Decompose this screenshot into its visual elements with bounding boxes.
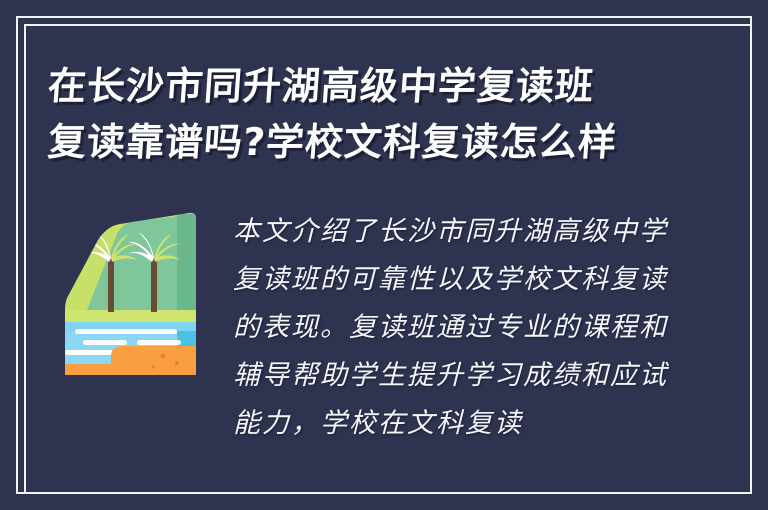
- poster-canvas: 在长沙市同升湖高级中学复读班 复读靠谱吗?学校文科复读怎么样: [0, 0, 768, 510]
- beach-palm-trees-icon: [65, 210, 196, 375]
- title-line-1: 在长沙市同升湖高级中学复读班: [46, 58, 710, 114]
- body-paragraph: 本文介绍了长沙市同升湖高级中学复读班的可靠性以及学校文科复读的表现。复读班通过专…: [233, 208, 673, 448]
- title-line-2: 复读靠谱吗?学校文科复读怎么样: [46, 114, 710, 170]
- beach-illustration-svg: [65, 210, 196, 375]
- content-row: 本文介绍了长沙市同升湖高级中学复读班的可靠性以及学校文科复读的表现。复读班通过专…: [0, 200, 768, 500]
- page-title: 在长沙市同升湖高级中学复读班 复读靠谱吗?学校文科复读怎么样: [48, 58, 708, 170]
